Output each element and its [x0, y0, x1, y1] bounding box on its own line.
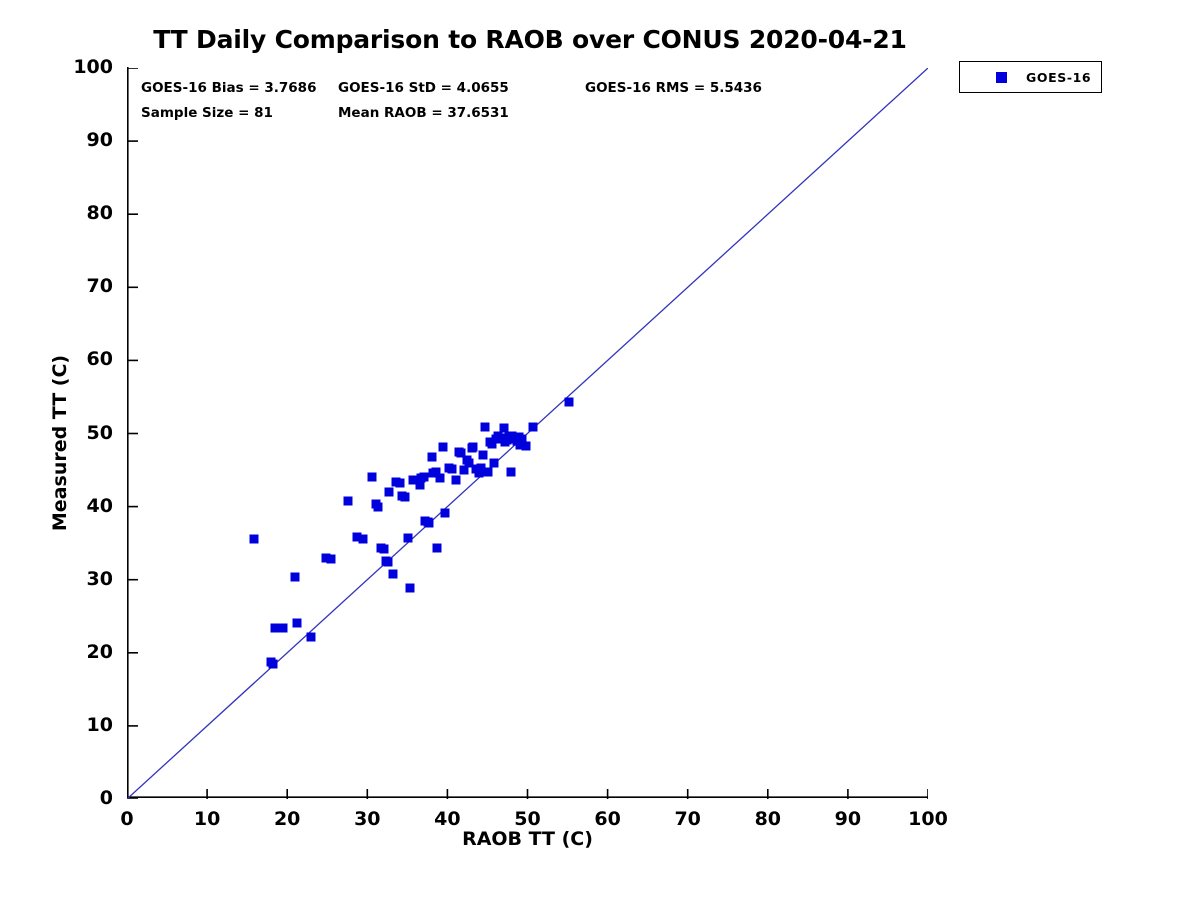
scatter-point	[506, 467, 515, 476]
page-title: TT Daily Comparison to RAOB over CONUS 2…	[0, 25, 1060, 54]
scatter-point	[279, 623, 288, 632]
legend-label-goes16: GOES-16	[1026, 70, 1091, 85]
y-tick-label: 80	[41, 202, 113, 224]
scatter-point	[270, 623, 279, 632]
scatter-point	[433, 543, 442, 552]
scatter-point	[380, 544, 389, 553]
x-tick-label: 30	[354, 808, 380, 830]
y-tick-label: 20	[41, 641, 113, 663]
x-axis-label: RAOB TT (C)	[127, 828, 928, 850]
y-axis-ticks	[128, 68, 138, 799]
scatter-point	[564, 398, 573, 407]
scatter-point	[483, 467, 492, 476]
scatter-point	[344, 496, 353, 505]
y-tick-label: 70	[41, 275, 113, 297]
one-to-one-reference-line	[127, 68, 928, 799]
x-tick-label: 90	[835, 808, 861, 830]
y-tick-label: 30	[41, 568, 113, 590]
y-tick-label: 10	[41, 714, 113, 736]
scatter-point	[405, 584, 414, 593]
y-tick-label: 0	[41, 787, 113, 809]
x-tick-label: 20	[274, 808, 300, 830]
x-tick-label: 10	[194, 808, 220, 830]
scatter-point	[403, 534, 412, 543]
scatter-point	[326, 554, 335, 563]
scatter-point	[478, 450, 487, 459]
x-tick-label: 50	[514, 808, 540, 830]
scatter-point	[441, 509, 450, 518]
scatter-point	[451, 476, 460, 485]
scatter-point	[469, 442, 478, 451]
scatter-point	[367, 472, 376, 481]
legend: GOES-16	[959, 61, 1102, 93]
x-axis-ticks	[127, 789, 928, 799]
scatter-point	[419, 473, 428, 482]
scatter-point	[383, 558, 392, 567]
scatter-point	[291, 572, 300, 581]
scatter-point	[438, 443, 447, 452]
y-tick-label: 100	[41, 56, 113, 78]
scatter-point	[401, 493, 410, 502]
legend-swatch-goes16	[996, 72, 1007, 83]
scatter-point	[427, 452, 436, 461]
scatter-point	[385, 487, 394, 496]
plot-area	[127, 67, 928, 798]
scatter-point	[447, 464, 456, 473]
x-tick-label: 80	[755, 808, 781, 830]
scatter-point	[373, 503, 382, 512]
scatter-point	[395, 479, 404, 488]
scatter-point	[499, 423, 508, 432]
scatter-point	[249, 535, 258, 544]
scatter-point	[293, 618, 302, 627]
scatter-point	[358, 534, 367, 543]
scatter-point	[435, 474, 444, 483]
x-tick-label: 100	[908, 808, 948, 830]
y-axis-label: Measured TT (C)	[49, 343, 71, 543]
chart-figure: TT Daily Comparison to RAOB over CONUS 2…	[0, 0, 1200, 900]
x-tick-label: 0	[120, 808, 133, 830]
x-tick-label: 40	[434, 808, 460, 830]
scatter-point	[481, 422, 490, 431]
scatter-point	[268, 660, 277, 669]
x-tick-label: 60	[594, 808, 620, 830]
y-tick-label: 90	[41, 129, 113, 151]
scatter-point	[425, 518, 434, 527]
scatter-point	[490, 458, 499, 467]
plot-canvas	[127, 68, 928, 799]
scatter-point	[522, 441, 531, 450]
scatter-point	[389, 569, 398, 578]
scatter-point	[306, 633, 315, 642]
scatter-point	[528, 422, 537, 431]
x-tick-label: 70	[674, 808, 700, 830]
